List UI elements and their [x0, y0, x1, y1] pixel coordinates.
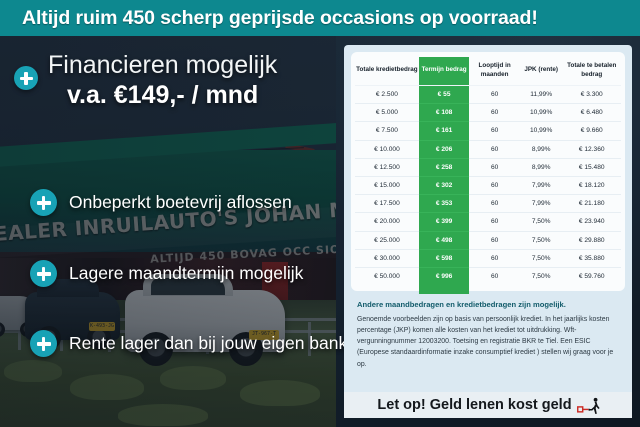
disclaimer-notes: Andere maandbedragen en kredietbedragen … [351, 291, 625, 370]
running-man-icon [577, 397, 599, 413]
cell-apr: 7,99% [520, 195, 563, 213]
cell-apr: 7,50% [520, 249, 563, 267]
cell-duration: 60 [469, 249, 520, 267]
cell-monthly-amount: € 302 [419, 176, 470, 194]
cell-total-payable: € 35.880 [562, 249, 621, 267]
benefits-column: Financieren mogelijk v.a. €149,- / mnd O… [0, 36, 340, 427]
column-header-monthly-amount: Termijn bedrag [419, 57, 470, 86]
benefit-label: Lagere maandtermijn mogelijk [69, 263, 303, 284]
table-body: € 2.500€ 556011,99%€ 3.300€ 5.000€ 10860… [355, 86, 621, 286]
loan-rates-card: Totale kredietbedrag Termijn bedrag Loop… [351, 52, 625, 291]
cell-total-credit: € 50.000 [355, 267, 419, 285]
cell-monthly-amount: € 258 [419, 158, 470, 176]
headline-text: Altijd ruim 450 scherp geprijsde occasio… [22, 7, 538, 30]
cell-total-payable: € 23.940 [562, 213, 621, 231]
cell-duration: 60 [469, 176, 520, 194]
cell-total-payable: € 15.480 [562, 158, 621, 176]
cell-total-credit: € 10.000 [355, 140, 419, 158]
column-header-duration: Looptijd in maanden [469, 57, 520, 86]
loan-warning-text: Let op! Geld lenen kost geld [377, 397, 571, 413]
cell-total-credit: € 20.000 [355, 213, 419, 231]
cell-total-payable: € 29.880 [562, 231, 621, 249]
cell-monthly-amount: € 996 [419, 267, 470, 285]
table-row: € 30.000€ 598607,50%€ 35.880 [355, 249, 621, 267]
plus-circle-icon [30, 189, 57, 216]
table-row: € 2.500€ 556011,99%€ 3.300 [355, 86, 621, 104]
cell-total-credit: € 5.000 [355, 104, 419, 122]
cell-duration: 60 [469, 86, 520, 104]
cell-total-payable: € 59.760 [562, 267, 621, 285]
table-row: € 15.000€ 302607,99%€ 18.120 [355, 176, 621, 194]
cell-total-payable: € 21.180 [562, 195, 621, 213]
cell-total-credit: € 30.000 [355, 249, 419, 267]
benefit-label: Onbeperkt boetevrij aflossen [69, 192, 292, 213]
cell-apr: 8,99% [520, 140, 563, 158]
cell-monthly-amount: € 206 [419, 140, 470, 158]
cell-total-payable: € 9.660 [562, 122, 621, 140]
cell-monthly-amount: € 161 [419, 122, 470, 140]
cell-duration: 60 [469, 231, 520, 249]
table-row: € 7.500€ 1616010,99%€ 9.660 [355, 122, 621, 140]
table-row: € 17.500€ 353607,99%€ 21.180 [355, 195, 621, 213]
cell-total-payable: € 3.300 [562, 86, 621, 104]
table-row: € 5.000€ 1086010,99%€ 6.480 [355, 104, 621, 122]
cell-apr: 10,99% [520, 122, 563, 140]
benefit-item-3: Rente lager dan bij jouw eigen bank [30, 330, 350, 357]
cell-apr: 7,50% [520, 213, 563, 231]
cell-total-payable: € 12.360 [562, 140, 621, 158]
table-row: € 25.000€ 498607,50%€ 29.880 [355, 231, 621, 249]
cell-total-credit: € 12.500 [355, 158, 419, 176]
cell-monthly-amount: € 55 [419, 86, 470, 104]
cell-total-credit: € 25.000 [355, 231, 419, 249]
cell-monthly-amount: € 498 [419, 231, 470, 249]
green-column-extension [419, 285, 470, 294]
disclaimer-heading: Andere maandbedragen en kredietbedragen … [357, 300, 619, 310]
table-row: € 20.000€ 399607,50%€ 23.940 [355, 213, 621, 231]
benefit-item-2: Lagere maandtermijn mogelijk [30, 260, 350, 287]
table-row: € 12.500€ 258608,99%€ 15.480 [355, 158, 621, 176]
cell-total-credit: € 7.500 [355, 122, 419, 140]
benefit-item-1: Onbeperkt boetevrij aflossen [30, 189, 350, 216]
cell-apr: 10,99% [520, 104, 563, 122]
cell-duration: 60 [469, 104, 520, 122]
cell-total-credit: € 2.500 [355, 86, 419, 104]
cell-monthly-amount: € 399 [419, 213, 470, 231]
cell-apr: 7,50% [520, 267, 563, 285]
cell-duration: 60 [469, 158, 520, 176]
advertisement-banner: EALER INRUILAUTO'S JOHAN MEURE ALTIJD 45… [0, 0, 640, 427]
cell-duration: 60 [469, 213, 520, 231]
plus-circle-icon [30, 330, 57, 357]
column-header-total-payable: Totale te betalen bedrag [562, 57, 621, 86]
cell-apr: 11,99% [520, 86, 563, 104]
headline-banner: Altijd ruim 450 scherp geprijsde occasio… [0, 0, 640, 36]
cell-monthly-amount: € 108 [419, 104, 470, 122]
cell-apr: 7,99% [520, 176, 563, 194]
loan-rates-table: Totale kredietbedrag Termijn bedrag Loop… [355, 57, 621, 285]
loan-warning-strip: Let op! Geld lenen kost geld [344, 392, 632, 418]
cell-duration: 60 [469, 195, 520, 213]
financing-price-from: v.a. €149,- / mnd [48, 81, 277, 110]
disclaimer-body: Genoemde voorbeelden zijn op basis van p… [357, 314, 619, 370]
financing-hero: Financieren mogelijk v.a. €149,- / mnd [14, 50, 340, 110]
table-green-column-tail [351, 285, 625, 295]
cell-apr: 7,50% [520, 231, 563, 249]
financing-hero-texts: Financieren mogelijk v.a. €149,- / mnd [48, 50, 277, 110]
table-row: € 50.000€ 996607,50%€ 59.760 [355, 267, 621, 285]
cell-monthly-amount: € 353 [419, 195, 470, 213]
cell-apr: 8,99% [520, 158, 563, 176]
loan-rates-panel: Totale kredietbedrag Termijn bedrag Loop… [344, 45, 632, 418]
cell-monthly-amount: € 598 [419, 249, 470, 267]
cell-total-payable: € 18.120 [562, 176, 621, 194]
cell-total-credit: € 15.000 [355, 176, 419, 194]
table-header-row: Totale kredietbedrag Termijn bedrag Loop… [355, 57, 621, 86]
cell-total-payable: € 6.480 [562, 104, 621, 122]
benefit-label: Rente lager dan bij jouw eigen bank [69, 333, 347, 354]
table-head: Totale kredietbedrag Termijn bedrag Loop… [355, 57, 621, 86]
column-header-total-credit: Totale kredietbedrag [355, 57, 419, 86]
plus-circle-icon [30, 260, 57, 287]
plus-circle-icon [14, 66, 38, 90]
cell-duration: 60 [469, 267, 520, 285]
financing-headline: Financieren mogelijk [48, 52, 277, 78]
table-row: € 10.000€ 206608,99%€ 12.360 [355, 140, 621, 158]
column-header-apr: JPK (rente) [520, 57, 563, 86]
cell-duration: 60 [469, 140, 520, 158]
cell-duration: 60 [469, 122, 520, 140]
cell-total-credit: € 17.500 [355, 195, 419, 213]
